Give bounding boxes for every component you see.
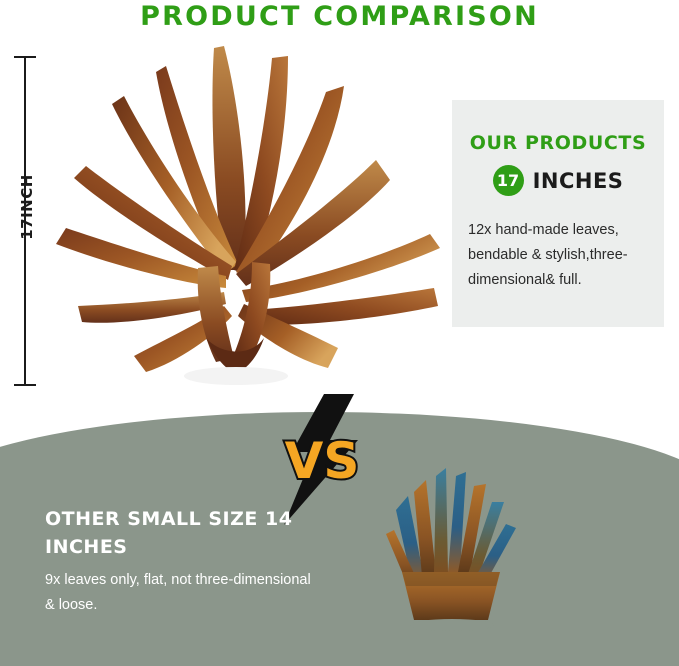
measurement-label: 17INCH [18,159,36,255]
our-products-description: 12x hand-made leaves, bendable & stylish… [468,218,658,293]
our-products-heading: OUR PRODUCTS [452,132,664,154]
page-title: PRODUCT COMPARISON [0,0,679,34]
other-product-description: 9x leaves only, flat, not three-dimensio… [45,568,315,618]
measure-cap-bottom-icon [14,384,36,386]
other-product-heading: OTHER SMALL SIZE 14 INCHES [45,505,335,561]
svg-text:VS: VS [285,432,360,490]
agave-plant-large-icon [38,38,458,403]
size-badge-row: 17 INCHES [452,165,664,196]
agave-plant-small-icon [368,462,543,642]
number-badge-icon: 17 [493,165,524,196]
measurement-bar: 17INCH [14,56,40,386]
product-comparison-image: PRODUCT COMPARISON 17INCH [0,0,679,666]
badge-unit-label: INCHES [533,169,624,193]
our-products-card: OUR PRODUCTS 17 INCHES 12x hand-made lea… [452,100,664,327]
